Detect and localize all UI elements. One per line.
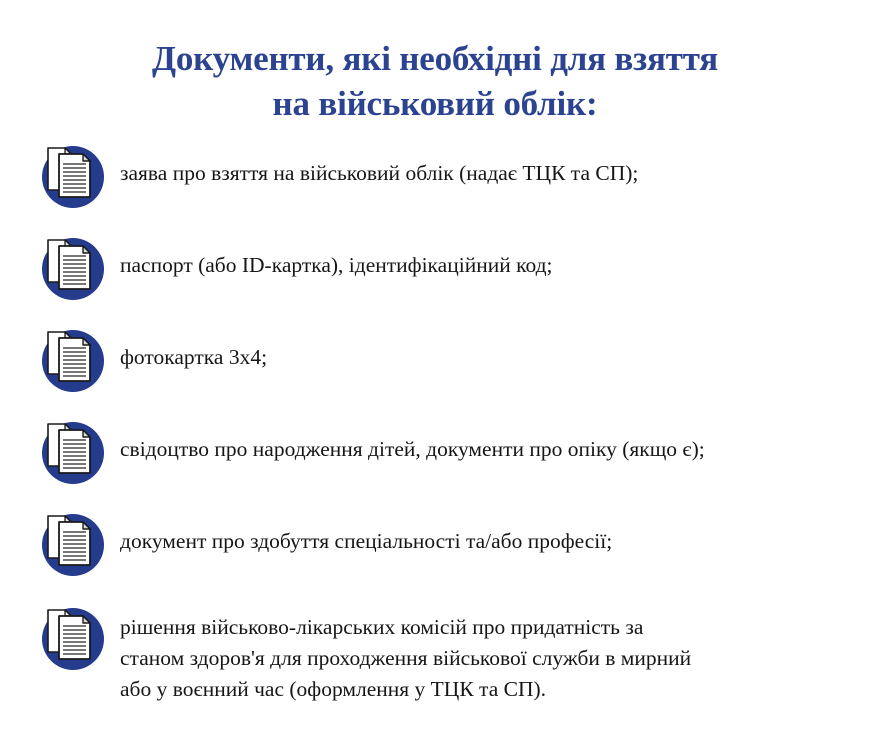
list-item: паспорт (або ID-картка), ідентифікаційни… — [38, 232, 860, 302]
document-requirements-list: заява про взяття на військовий облік (на… — [0, 140, 870, 705]
infographic-root: Документи, які необхідні для взяття на в… — [0, 0, 870, 729]
page-title-line-1: Документи, які необхідні для взяття — [0, 36, 870, 81]
list-item: документ про здобуття спеціальності та/а… — [38, 508, 860, 578]
list-item-label: рішення військово-лікарських комісій про… — [120, 602, 860, 705]
list-item: фотокартка 3х4; — [38, 324, 860, 394]
documents-icon — [38, 324, 108, 394]
list-item-label: документ про здобуття спеціальності та/а… — [120, 508, 860, 557]
documents-icon — [38, 602, 108, 672]
list-item-label: свідоцтво про народження дітей, документ… — [120, 416, 860, 465]
documents-icon — [38, 508, 108, 578]
documents-icon — [38, 232, 108, 302]
list-item: рішення військово-лікарських комісій про… — [38, 602, 860, 705]
page-title: Документи, які необхідні для взяття на в… — [0, 0, 870, 126]
list-item: заява про взяття на військовий облік (на… — [38, 140, 860, 210]
list-item-label: фотокартка 3х4; — [120, 324, 860, 373]
documents-icon — [38, 416, 108, 486]
list-item-label: заява про взяття на військовий облік (на… — [120, 140, 860, 189]
documents-icon — [38, 140, 108, 210]
list-item: свідоцтво про народження дітей, документ… — [38, 416, 860, 486]
page-title-line-2: на військовий облік: — [0, 81, 870, 126]
list-item-label: паспорт (або ID-картка), ідентифікаційни… — [120, 232, 860, 281]
